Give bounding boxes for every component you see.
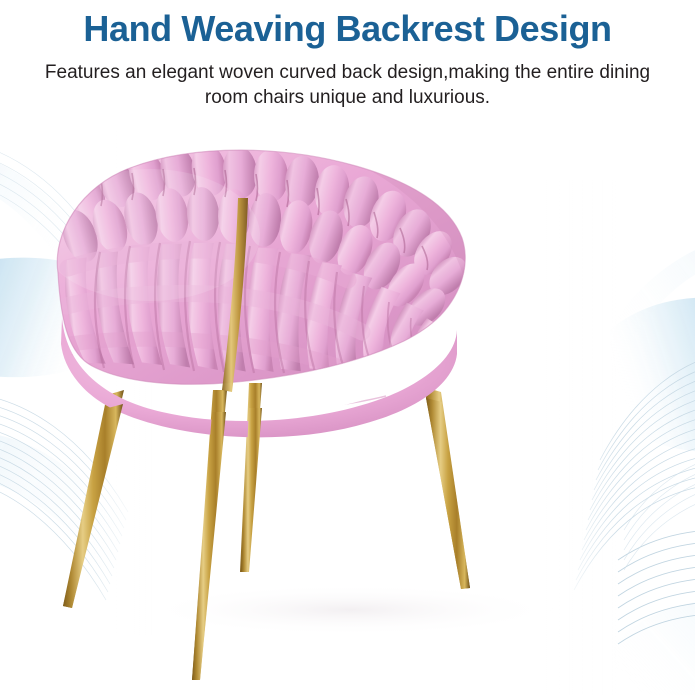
chair-leg-front-right-fg: [192, 412, 226, 680]
page-title: Hand Weaving Backrest Design: [0, 10, 695, 48]
product-photo: [0, 140, 695, 695]
chair-legs-foreground: [63, 398, 470, 680]
page-subtitle: Features an elegant woven curved back de…: [35, 60, 660, 110]
chair-woven-backrest: [40, 140, 500, 384]
infographic-panel: Hand Weaving Backrest Design Features an…: [0, 0, 695, 695]
chair-leg-back-right-fg: [426, 398, 470, 589]
header: Hand Weaving Backrest Design Features an…: [0, 0, 695, 110]
chair-leg-front-left-fg: [63, 404, 123, 608]
